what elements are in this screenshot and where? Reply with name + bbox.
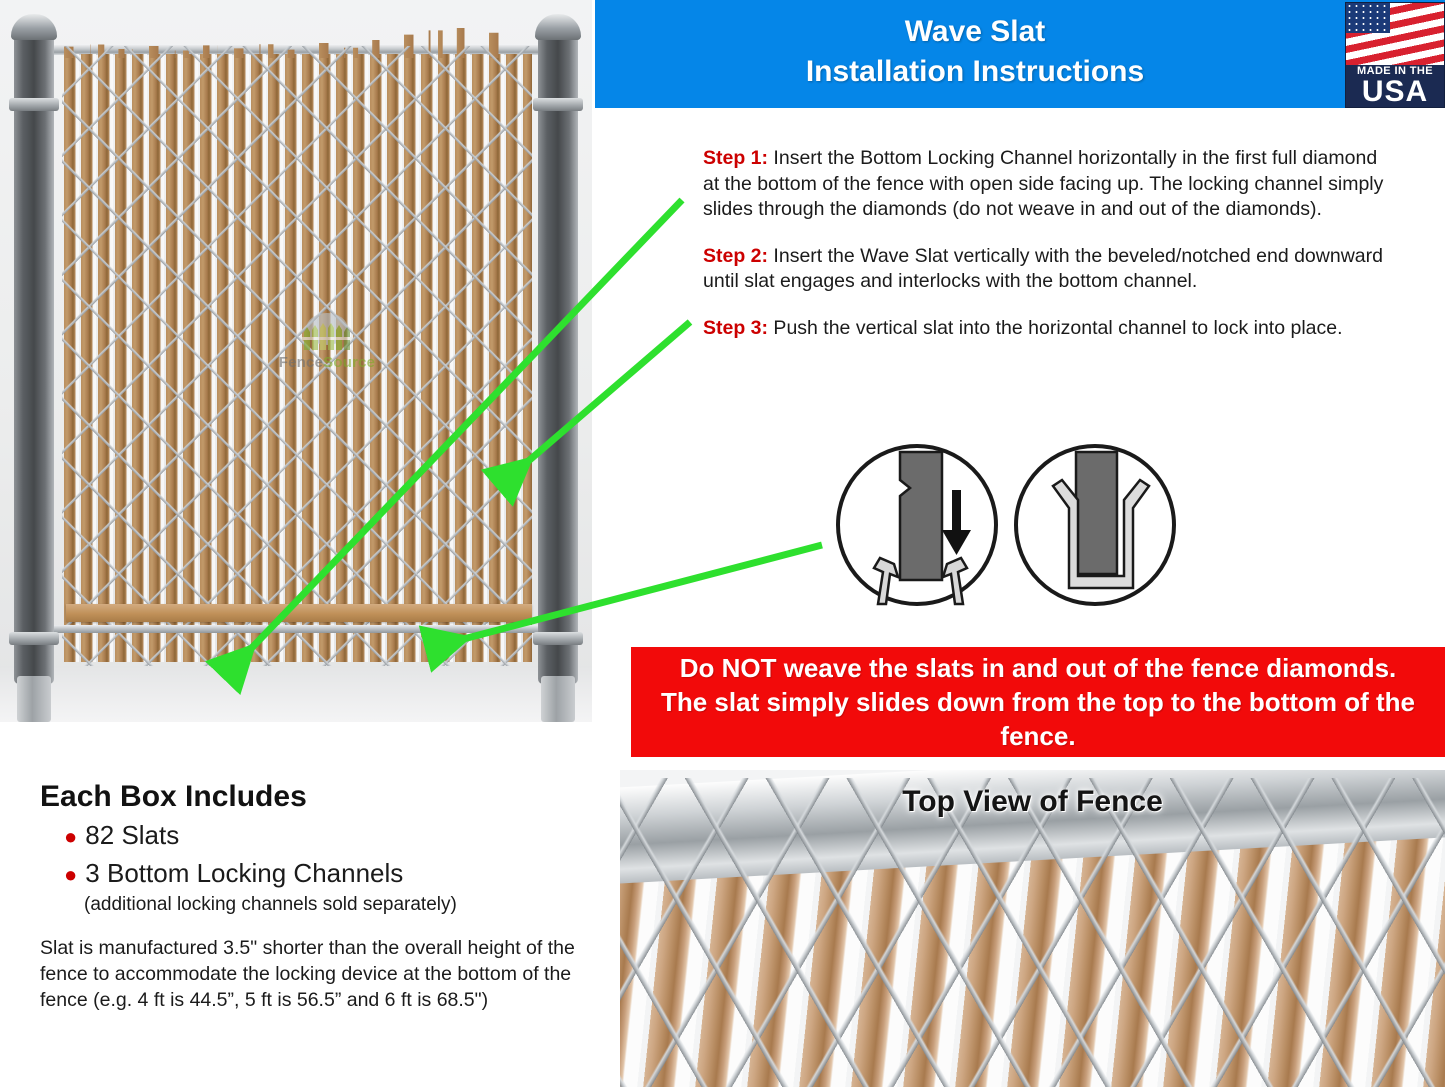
post-band — [9, 632, 59, 645]
step-3: Step 3: Push the vertical slat into the … — [703, 316, 1393, 342]
step-1-label: Step 1: — [703, 147, 768, 169]
slat-locking-diagram — [834, 442, 1178, 608]
each-box-includes-section: Each Box Includes ● 82 Slats ● 3 Bottom … — [40, 780, 605, 916]
page-title: Wave Slat Installation Instructions — [595, 12, 1355, 92]
warning-text: Do NOT weave the slats in and out of the… — [655, 651, 1420, 753]
page-title-line1: Wave Slat — [595, 12, 1355, 52]
do-not-weave-warning-banner: Do NOT weave the slats in and out of the… — [631, 647, 1445, 757]
bullet-dot-icon: ● — [64, 858, 77, 892]
badge-usa-label: USA — [1346, 75, 1444, 108]
page-title-line2: Installation Instructions — [595, 52, 1355, 92]
slat-inserting-down-into-channel — [838, 446, 996, 604]
post-band — [533, 632, 583, 645]
bullet-dot-icon: ● — [64, 820, 77, 854]
step-2-text: Insert the Wave Slat vertically with the… — [703, 245, 1383, 293]
installation-steps: Step 1: Insert the Bottom Locking Channe… — [703, 146, 1393, 362]
step-3-text: Push the vertical slat into the horizont… — [768, 317, 1343, 339]
fence-post-right — [538, 24, 578, 684]
step-2-label: Step 2: — [703, 245, 768, 267]
slat-measurement-note: Slat is manufactured 3.5" shorter than t… — [40, 935, 600, 1013]
us-flag-canton — [1346, 3, 1390, 33]
list-item: ● 82 Slats — [64, 818, 605, 854]
fence-post-left — [14, 24, 54, 684]
post-cap-right-icon — [535, 14, 581, 40]
fence-bottom-rail — [48, 625, 544, 633]
made-in-usa-badge: MADE IN THE USA — [1345, 2, 1445, 108]
bottom-locking-channel — [66, 604, 532, 622]
fence-panel — [62, 28, 532, 683]
post-cap-left-icon — [11, 14, 57, 40]
post-band — [9, 98, 59, 111]
list-item: ● 3 Bottom Locking Channels — [64, 856, 605, 892]
box-includes-item-2: 3 Bottom Locking Channels — [85, 856, 403, 890]
step-1: Step 1: Insert the Bottom Locking Channe… — [703, 146, 1393, 223]
slat-locked-in-channel — [1016, 446, 1174, 604]
step-1-text: Insert the Bottom Locking Channel horizo… — [703, 147, 1383, 220]
box-includes-item-1: 82 Slats — [85, 818, 179, 852]
chain-link-mesh — [62, 46, 532, 666]
box-includes-heading: Each Box Includes — [40, 780, 605, 814]
step-2: Step 2: Insert the Wave Slat vertically … — [703, 244, 1393, 295]
sold-separately-note: (additional locking channels sold separa… — [84, 894, 605, 916]
top-view-label: Top View of Fence — [620, 785, 1445, 819]
post-band — [533, 98, 583, 111]
step-3-label: Step 3: — [703, 317, 768, 339]
post-footing-right — [541, 676, 575, 722]
top-view-chain-link-mesh — [620, 778, 1445, 1087]
post-footing-left — [17, 676, 51, 722]
chain-link-fence-with-wave-slats-photo: FenceSource — [0, 0, 592, 722]
